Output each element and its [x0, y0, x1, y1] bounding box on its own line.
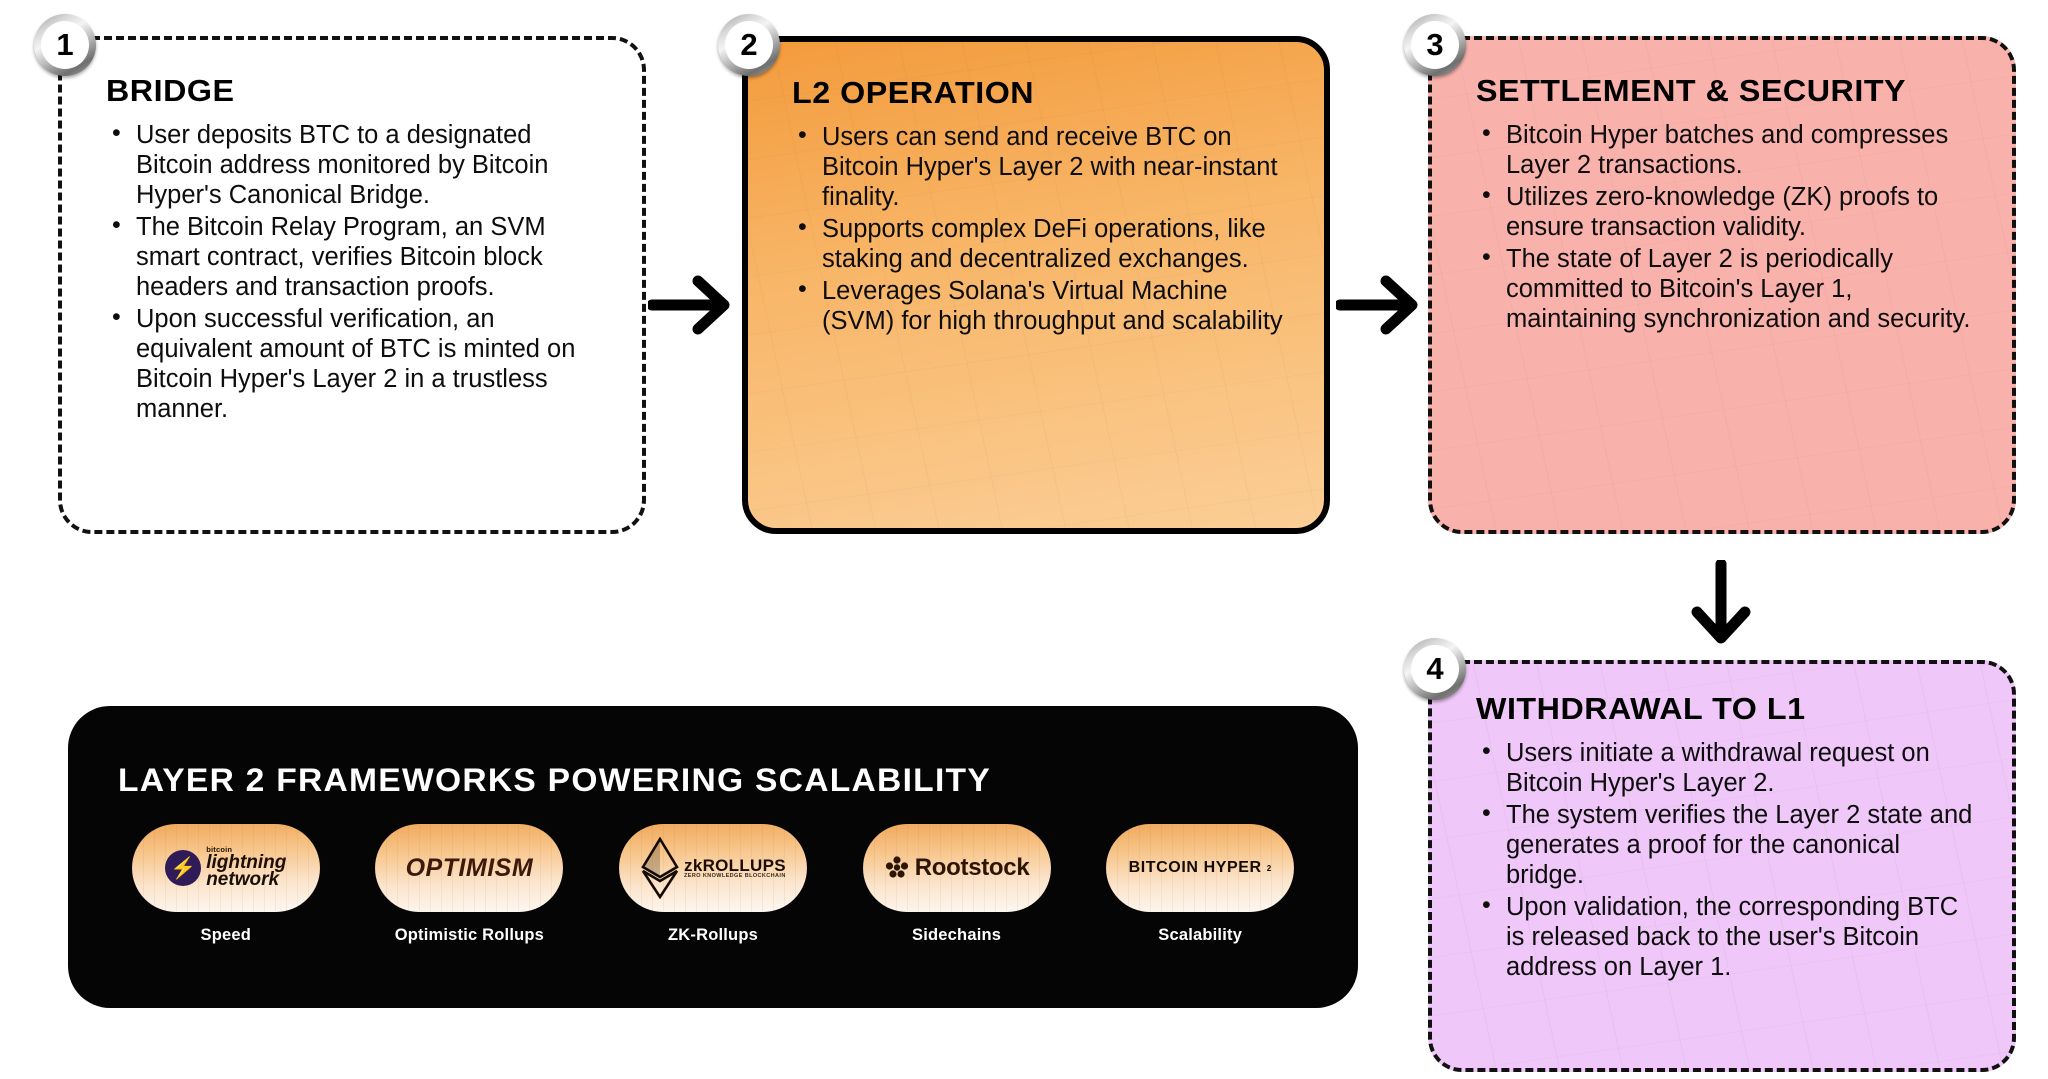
panel-bullets-1: User deposits BTC to a designated Bitcoi… — [106, 120, 612, 425]
logo-text: Rootstock — [915, 854, 1030, 882]
framework-label: Optimistic Rollups — [374, 926, 564, 945]
step-panel-withdrawal-to-l1: WITHDRAWAL TO L1 Users initiate a withdr… — [1428, 660, 2016, 1072]
panel-bullets-3: Bitcoin Hyper batches and compresses Lay… — [1476, 120, 1982, 335]
zk-rollups-logo: zkROLLUPS ZERO KNOWLEDGE BLOCKCHAIN — [619, 824, 807, 912]
frameworks-title: LAYER 2 FRAMEWORKS POWERING SCALABILITY — [118, 762, 991, 799]
arrow-l2-to-settlement-icon — [1336, 272, 1426, 343]
list-item: The Bitcoin Relay Program, an SVM smart … — [106, 212, 612, 302]
lightning-bolt-icon: ⚡ — [165, 850, 201, 886]
list-item: Users can send and receive BTC on Bitcoi… — [792, 122, 1294, 212]
logo-text: zkROLLUPS — [684, 857, 786, 874]
list-item: The state of Layer 2 is periodically com… — [1476, 244, 1982, 334]
list-item: Supports complex DeFi operations, like s… — [792, 214, 1294, 274]
lightning-network-logo: ⚡ bitcoin lightning network — [132, 824, 320, 912]
step-badge-4: 4 — [1404, 638, 1466, 700]
logo-line2: network — [206, 871, 286, 889]
frameworks-panel: LAYER 2 FRAMEWORKS POWERING SCALABILITY … — [68, 706, 1358, 1008]
rootstock-mark-icon — [884, 855, 910, 881]
frameworks-row: ⚡ bitcoin lightning network Speed OPTIMI… — [104, 824, 1322, 945]
step-panel-l2-operation: L2 OPERATION Users can send and receive … — [742, 36, 1330, 534]
framework-item-optimistic-rollups[interactable]: OPTIMISM Optimistic Rollups — [374, 824, 564, 945]
list-item: Leverages Solana's Virtual Machine (SVM)… — [792, 276, 1294, 336]
framework-label: Sidechains — [862, 926, 1052, 945]
step-panel-bridge: BRIDGE User deposits BTC to a designated… — [58, 36, 646, 534]
panel-bullets-2: Users can send and receive BTC on Bitcoi… — [792, 122, 1294, 337]
panel-title-2: L2 OPERATION — [792, 76, 1314, 111]
panel-title-4: WITHDRAWAL TO L1 — [1476, 692, 2002, 727]
step-badge-2: 2 — [718, 14, 780, 76]
infographic-canvas: BRIDGE User deposits BTC to a designated… — [0, 0, 2048, 1079]
logo-text: OPTIMISM — [406, 854, 534, 883]
step-badge-3: 3 — [1404, 14, 1466, 76]
list-item: The system verifies the Layer 2 state an… — [1476, 800, 1982, 890]
optimism-logo: OPTIMISM — [375, 824, 563, 912]
list-item: Utilizes zero-knowledge (ZK) proofs to e… — [1476, 182, 1982, 242]
list-item: User deposits BTC to a designated Bitcoi… — [106, 120, 612, 210]
list-item: Upon validation, the corresponding BTC i… — [1476, 892, 1982, 982]
logo-superscript: 2 — [1267, 864, 1272, 873]
step-badge-1: 1 — [34, 14, 96, 76]
framework-item-zk-rollups[interactable]: zkROLLUPS ZERO KNOWLEDGE BLOCKCHAIN ZK-R… — [618, 824, 808, 945]
list-item: Upon successful verification, an equival… — [106, 304, 612, 424]
panel-bullets-4: Users initiate a withdrawal request on B… — [1476, 738, 1982, 983]
logo-text: BITCOIN HYPER — [1129, 859, 1262, 877]
bitcoin-hyper-logo: BITCOIN HYPER2 — [1106, 824, 1294, 912]
framework-label: Scalability — [1105, 926, 1295, 945]
panel-title-1: BRIDGE — [106, 74, 632, 109]
arrow-bridge-to-l2-icon — [648, 272, 738, 343]
arrow-settlement-to-withdrawal-icon — [1688, 560, 1754, 657]
rootstock-logo: Rootstock — [863, 824, 1051, 912]
step-panel-settlement-security: SETTLEMENT & SECURITY Bitcoin Hyper batc… — [1428, 36, 2016, 534]
list-item: Bitcoin Hyper batches and compresses Lay… — [1476, 120, 1982, 180]
framework-label: Speed — [131, 926, 321, 945]
framework-item-sidechains[interactable]: Rootstock Sidechains — [862, 824, 1052, 945]
framework-item-speed[interactable]: ⚡ bitcoin lightning network Speed — [131, 824, 321, 945]
logo-subtext: ZERO KNOWLEDGE BLOCKCHAIN — [684, 874, 786, 880]
ethereum-diamond-icon — [640, 837, 680, 899]
framework-label: ZK-Rollups — [618, 926, 808, 945]
framework-item-scalability[interactable]: BITCOIN HYPER2 Scalability — [1105, 824, 1295, 945]
panel-title-3: SETTLEMENT & SECURITY — [1476, 74, 2002, 109]
list-item: Users initiate a withdrawal request on B… — [1476, 738, 1982, 798]
